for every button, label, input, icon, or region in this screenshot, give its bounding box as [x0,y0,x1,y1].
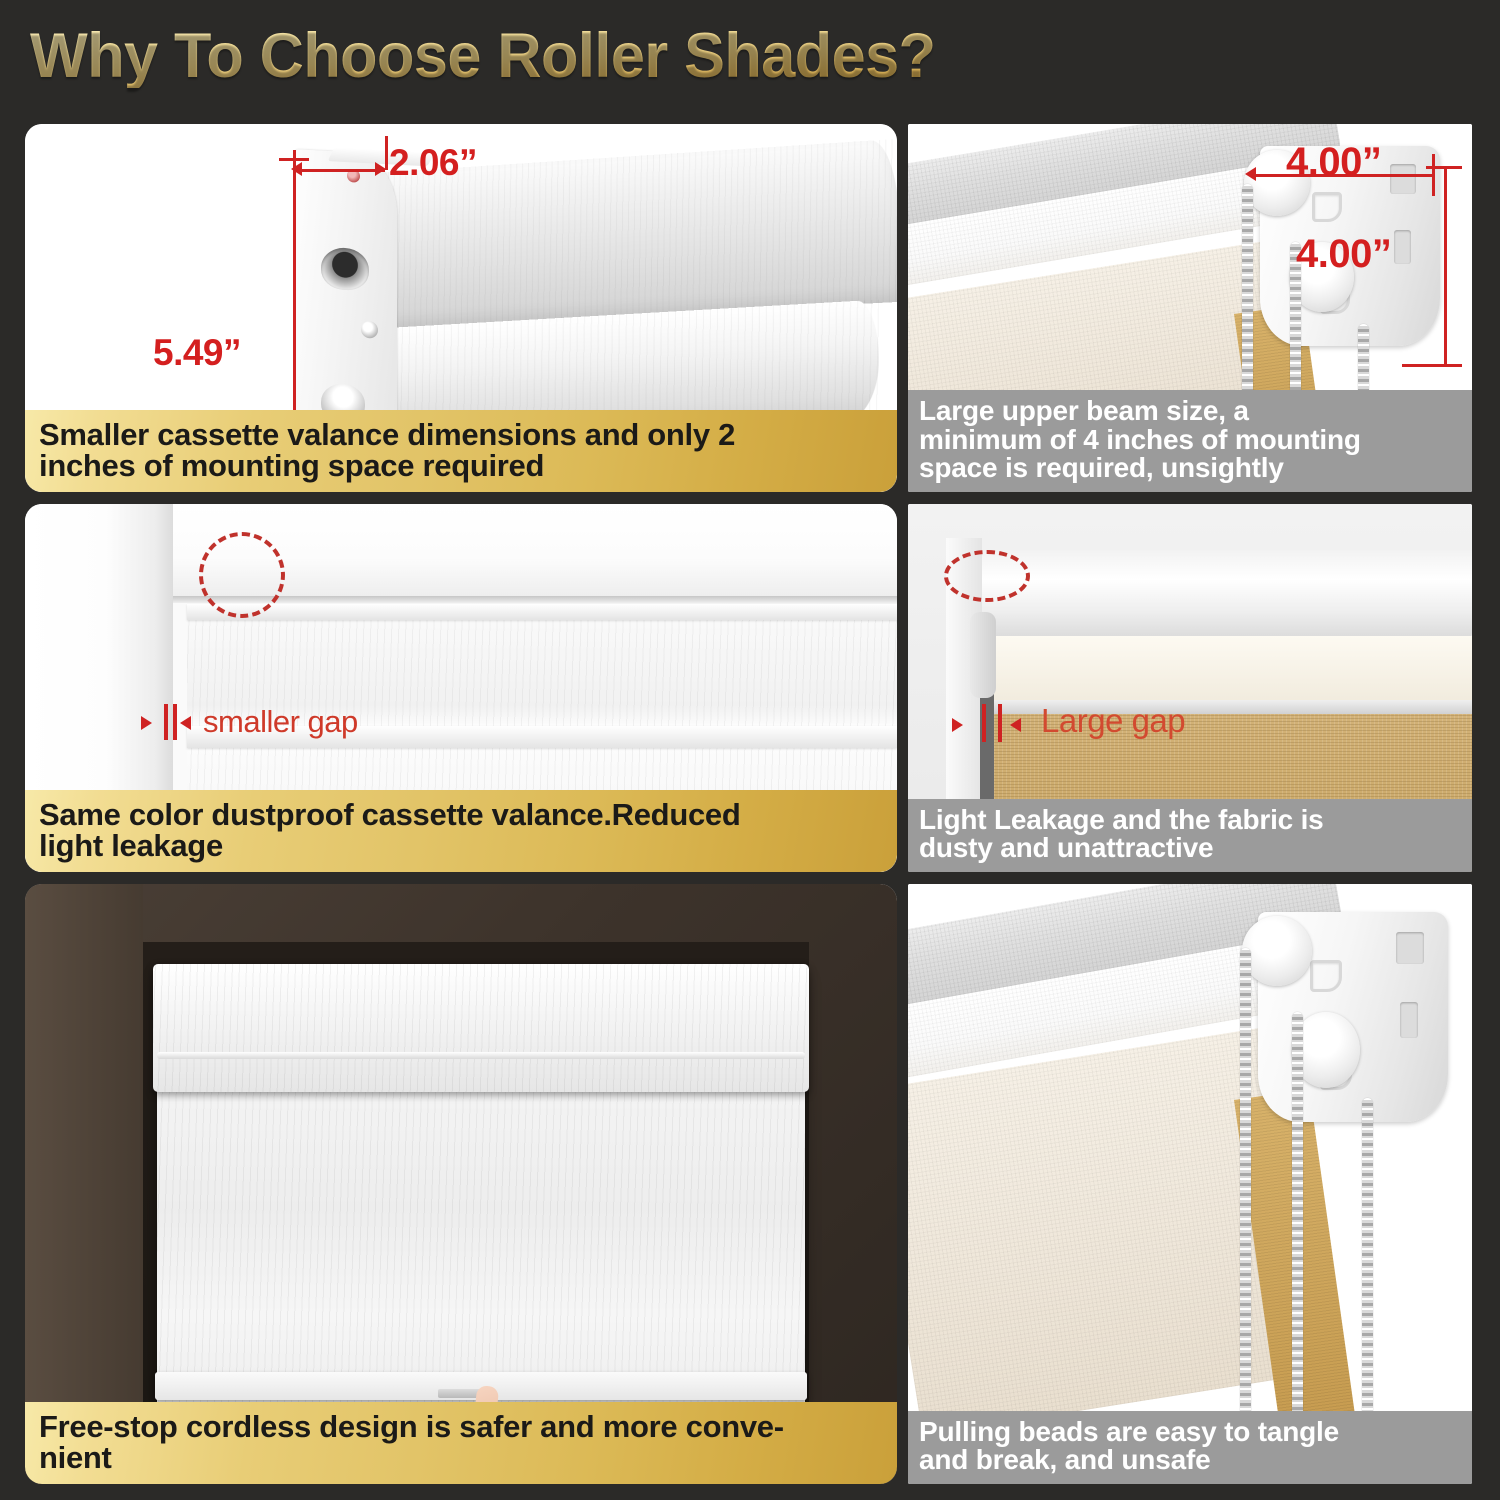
caption-line-1: Smaller cassette valance dimensions and … [39,419,883,451]
bead-chain-right [1362,1098,1373,1428]
cassette-end-hole [321,247,369,292]
panel-light-leakage: Large gap Light Leakage and the fabric i… [908,504,1472,872]
caption-free-stop-cordless: Free-stop cordless design is safer and m… [25,1402,897,1484]
caption-line-1: Light Leakage and the fabric is [919,806,1461,835]
caption-light-leakage: Light Leakage and the fabric is dusty an… [908,799,1472,872]
photo-room-window [25,884,897,1484]
panel-smaller-cassette-valance: 2.06” 5.49” Smaller cassette valance dim… [25,124,897,492]
panel-large-upper-beam: 4.00” 4.00” Large upper beam size, a min… [908,124,1472,492]
bead-chain-left [1240,948,1251,1428]
panel-dustproof-cassette-valance: smaller gap Same color dustproof cassett… [25,504,897,872]
dimension-height-label: 4.00” [1296,232,1391,277]
caption-smaller-cassette-valance: Smaller cassette valance dimensions and … [25,410,897,492]
clutch-wheel [1242,916,1312,986]
caption-dustproof-cassette-valance: Same color dustproof cassette valance.Re… [25,790,897,872]
panel-free-stop-cordless: Free-stop cordless design is safer and m… [25,884,897,1484]
caption-line-1: Free-stop cordless design is safer and m… [39,1411,883,1443]
dimension-width-label: 2.06” [389,142,477,184]
cassette-screw-icon [361,321,378,339]
caption-line-2: nient [39,1442,883,1474]
caption-line-2: and break, and unsafe [919,1446,1461,1475]
photo-pulling-beads [908,884,1472,1484]
caption-pulling-beads: Pulling beads are easy to tangle and bre… [908,1411,1472,1484]
caption-line-2: inches of mounting space required [39,450,883,482]
cassette-illustration [257,142,897,442]
panel-pulling-beads: Pulling beads are easy to tangle and bre… [908,884,1472,1484]
caption-large-upper-beam: Large upper beam size, a minimum of 4 in… [908,390,1472,492]
caption-line-2: dusty and unattractive [919,834,1461,863]
dimension-width-label: 4.00” [1286,140,1381,185]
caption-line-1: Pulling beads are easy to tangle [919,1418,1461,1447]
caption-line-3: space is required, unsightly [919,454,1461,483]
large-gap-label: Large gap [1041,702,1185,740]
caption-line-1: Same color dustproof cassette valance.Re… [39,799,883,831]
caption-line-2: light leakage [39,830,883,862]
highlight-circle-gap [199,532,285,618]
dimension-height-label: 5.49” [153,332,241,374]
caption-line-1: Large upper beam size, a [919,397,1461,426]
page-header: Why To Choose Roller Shades? [0,0,1500,112]
comparison-grid: 2.06” 5.49” Smaller cassette valance dim… [0,112,1500,1500]
roller-clutch [970,612,996,698]
cassette-valance [153,964,809,1092]
highlight-circle-gap [944,550,1030,602]
bead-chain-mid [1292,1012,1303,1428]
caption-line-2: minimum of 4 inches of mounting [919,426,1461,455]
page-title: Why To Choose Roller Shades? [30,25,935,88]
smaller-gap-label: smaller gap [203,704,358,740]
